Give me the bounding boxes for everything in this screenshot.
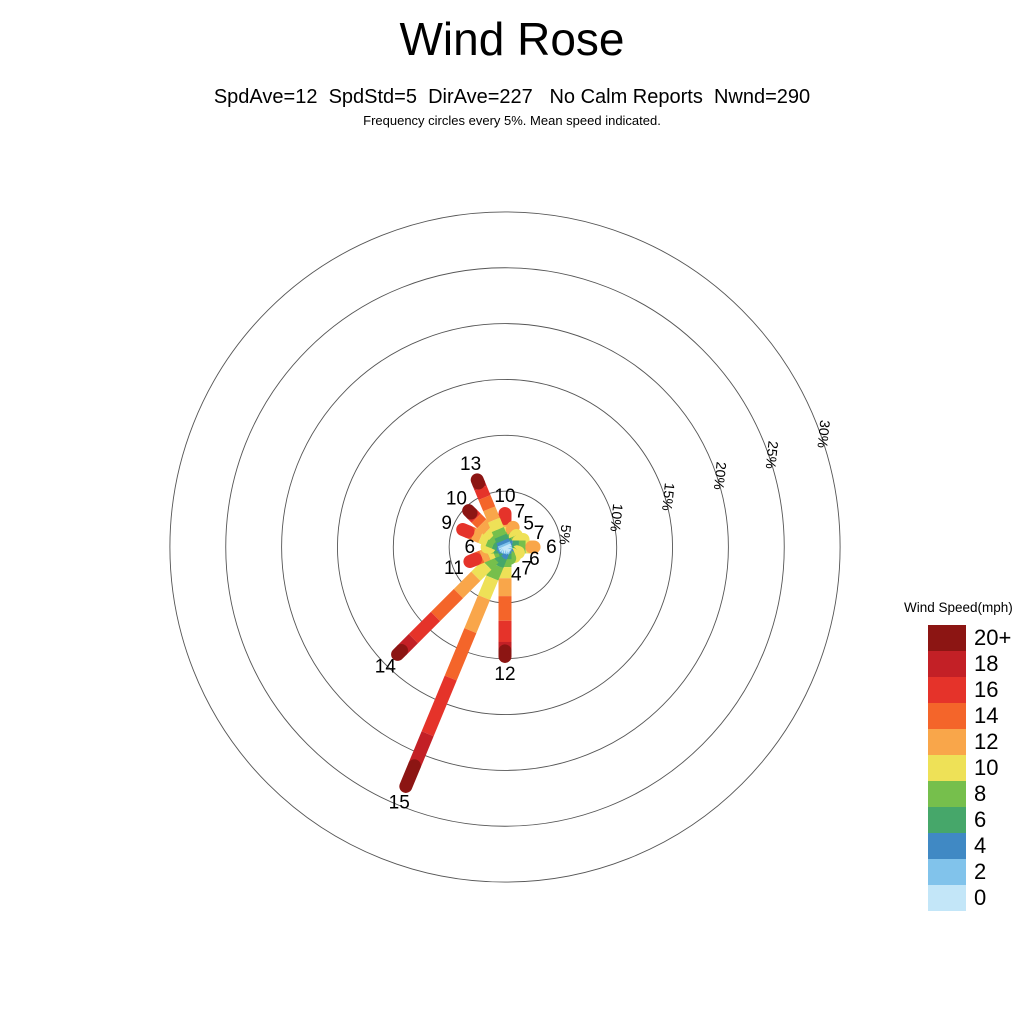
petal-mean-speed-label: 10 xyxy=(494,486,515,507)
petal-segment xyxy=(435,594,458,617)
ring-label: 25% xyxy=(763,440,782,470)
legend-color-swatch xyxy=(928,677,966,703)
petal-segment xyxy=(413,617,435,639)
petal-segment xyxy=(476,518,482,524)
petal-segment xyxy=(504,544,505,546)
petal-segment xyxy=(406,766,415,787)
legend-row: 0 xyxy=(900,885,1024,911)
legend-row: 2 xyxy=(900,859,1024,885)
petal-segment xyxy=(451,631,471,678)
legend-label: 20+ xyxy=(974,625,1011,651)
petal-segment xyxy=(512,527,513,529)
legend-color-swatch xyxy=(928,781,966,807)
ring-label: 30% xyxy=(814,419,833,449)
legend-label: 2 xyxy=(974,859,986,885)
petal-mean-speed-label: 6 xyxy=(546,537,557,558)
petal-group xyxy=(398,480,534,786)
legend-row: 8 xyxy=(900,781,1024,807)
petal-segment xyxy=(484,497,489,508)
legend-row: 14 xyxy=(900,703,1024,729)
legend-color-swatch xyxy=(928,885,966,911)
legend: Wind Speed(mph) 20+181614121086420 xyxy=(900,600,1024,911)
legend-title: Wind Speed(mph) xyxy=(904,600,1024,615)
legend-label: 10 xyxy=(974,755,998,781)
legend-row: 4 xyxy=(900,833,1024,859)
petal-segment xyxy=(481,488,485,497)
petal-segment xyxy=(469,511,471,513)
petal-mean-speed-label: 4 xyxy=(511,564,522,585)
petal-mean-speed-label: 9 xyxy=(441,513,452,534)
ring-label: 20% xyxy=(711,461,730,491)
legend-label: 8 xyxy=(974,781,986,807)
petal-segment xyxy=(501,536,503,541)
petal-segment xyxy=(482,554,488,557)
legend-row: 16 xyxy=(900,677,1024,703)
legend-color-swatch xyxy=(928,755,966,781)
legend-color-swatch xyxy=(928,859,966,885)
legend-label: 0 xyxy=(974,885,986,911)
legend-label: 4 xyxy=(974,833,986,859)
petal-segment xyxy=(398,650,402,654)
petal-segment xyxy=(476,565,487,576)
petal-mean-speed-label: 13 xyxy=(460,454,481,475)
petal-segment xyxy=(502,541,503,544)
legend-color-swatch xyxy=(928,833,966,859)
legend-row: 20+ xyxy=(900,625,1024,651)
petal-mean-speed-label: 10 xyxy=(446,488,467,509)
wind-rose-plot: 5%10%15%20%25%30% 1075766741215141169101… xyxy=(0,0,1024,1024)
legend-label: 16 xyxy=(974,677,998,703)
legend-label: 14 xyxy=(974,703,998,729)
legend-color-swatch xyxy=(928,651,966,677)
ring-label-group: 5%10%15%20%25%30% xyxy=(556,419,833,545)
petal-mean-speed-label: 5 xyxy=(523,513,534,534)
legend-color-swatch xyxy=(928,625,966,651)
petal-segment xyxy=(484,578,492,598)
legend-color-swatch xyxy=(928,729,966,755)
legend-row: 10 xyxy=(900,755,1024,781)
petal-segment xyxy=(489,509,494,520)
ring-label: 15% xyxy=(659,482,678,512)
legend-label: 18 xyxy=(974,651,998,677)
petal-mean-speed-label: 12 xyxy=(494,664,515,685)
legend-label: 12 xyxy=(974,729,998,755)
petal-segment xyxy=(477,480,478,483)
petal-mean-speed-label: 15 xyxy=(389,792,410,813)
legend-row: 6 xyxy=(900,807,1024,833)
petal-segment xyxy=(494,520,498,529)
petal-mean-speed-label: 7 xyxy=(521,559,532,580)
petal-mean-speed-label: 14 xyxy=(375,657,397,678)
legend-label: 6 xyxy=(974,807,986,833)
legend-rows: 20+181614121086420 xyxy=(900,625,1024,911)
ring-label: 10% xyxy=(607,503,626,533)
legend-color-swatch xyxy=(928,807,966,833)
legend-row: 18 xyxy=(900,651,1024,677)
petal-segment xyxy=(470,598,484,631)
petal-mean-speed-label: 7 xyxy=(534,523,545,544)
petal-segment xyxy=(482,524,488,530)
ring-label: 5% xyxy=(556,524,574,546)
petal-segment xyxy=(463,529,468,531)
petal-segment xyxy=(428,678,451,734)
petal-segment xyxy=(470,559,476,561)
petal-segment xyxy=(498,529,501,536)
petal-mean-speed-label: 11 xyxy=(444,558,464,579)
legend-color-swatch xyxy=(928,703,966,729)
petal-mean-speed-label: 6 xyxy=(465,537,476,558)
legend-row: 12 xyxy=(900,729,1024,755)
